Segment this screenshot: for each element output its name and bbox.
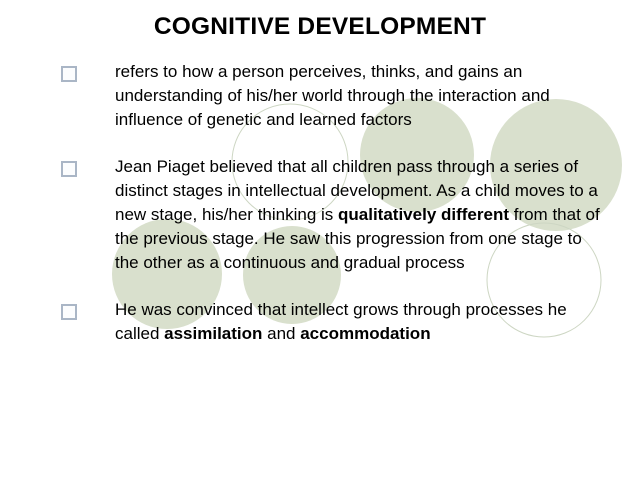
plain-text: and	[262, 324, 300, 343]
slide-canvas: COGNITIVE DEVELOPMENT refers to how a pe…	[0, 0, 640, 480]
hollow-square-bullet-icon	[61, 66, 77, 82]
emphasis-text: accommodation	[300, 324, 430, 343]
hollow-square-bullet-icon	[61, 161, 77, 177]
list-item-text: He was convinced that intellect grows th…	[115, 300, 567, 343]
list-item-text: refers to how a person perceives, thinks…	[115, 62, 550, 129]
plain-text: refers to how a person perceives, thinks…	[115, 62, 550, 129]
list-item-text: Jean Piaget believed that all children p…	[115, 157, 600, 273]
bullet-list: refers to how a person perceives, thinks…	[0, 60, 640, 368]
emphasis-text: assimilation	[164, 324, 262, 343]
hollow-square-bullet-icon	[61, 304, 77, 320]
list-item: refers to how a person perceives, thinks…	[0, 60, 640, 133]
page-title: COGNITIVE DEVELOPMENT	[0, 13, 640, 41]
list-item: Jean Piaget believed that all children p…	[0, 155, 640, 276]
emphasis-text: qualitatively different	[338, 205, 509, 224]
list-item: He was convinced that intellect grows th…	[0, 298, 640, 346]
